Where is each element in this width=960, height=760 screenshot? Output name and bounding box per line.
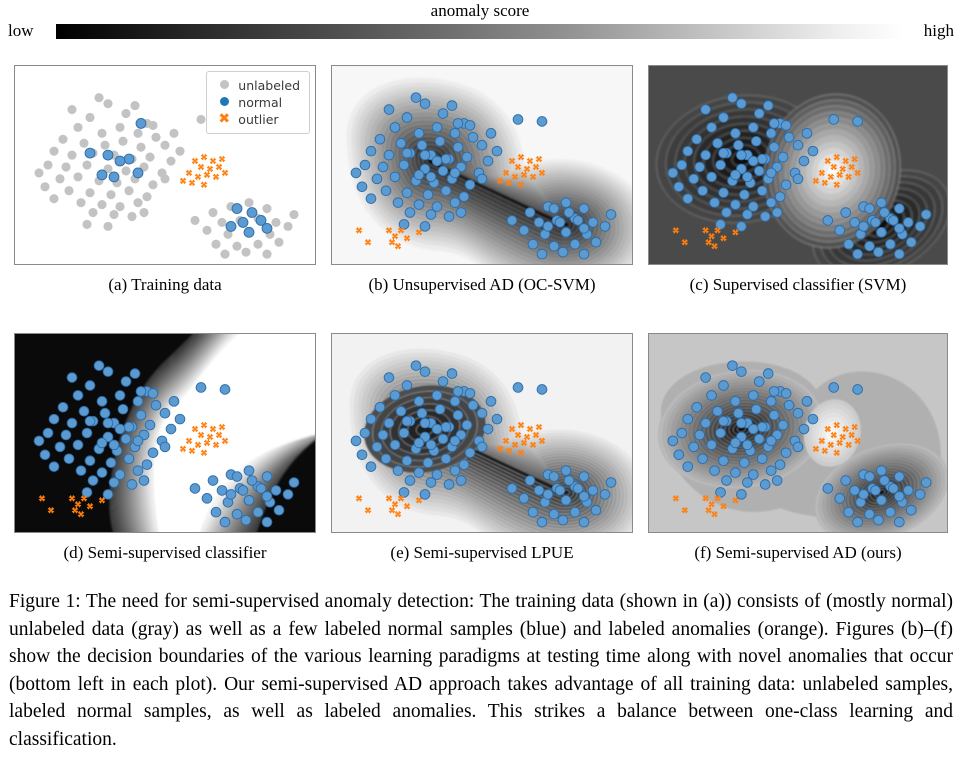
panel-f-plot xyxy=(649,334,947,532)
colorbar: anomaly score low high xyxy=(0,0,960,52)
outlier-marker-icon: ✖ xyxy=(214,112,234,127)
panel-a-training-data: unlabeled normal ✖ outlier xyxy=(14,65,316,265)
panel-d-semi-supervised-classifier xyxy=(14,333,316,533)
panel-d-caption: (d) Semi-supervised classifier xyxy=(14,542,316,564)
legend-item-normal: normal xyxy=(214,94,300,111)
panel-b-caption: (b) Unsupervised AD (OC-SVM) xyxy=(331,274,633,296)
panel-e-plot xyxy=(332,334,632,532)
figure-1: anomaly score low high unlabeled normal xyxy=(0,0,960,760)
panel-c-plot xyxy=(649,66,947,264)
colorbar-title: anomaly score xyxy=(0,1,960,21)
legend: unlabeled normal ✖ outlier xyxy=(206,71,310,134)
panel-e-caption: (e) Semi-supervised LPUE xyxy=(331,542,633,564)
panel-b-unsupervised-ad xyxy=(331,65,633,265)
normal-marker-icon xyxy=(214,96,234,110)
panel-d-plot xyxy=(15,334,315,532)
legend-item-outlier: ✖ outlier xyxy=(214,111,300,128)
colorbar-low-label: low xyxy=(8,21,34,41)
legend-label-normal: normal xyxy=(238,95,282,110)
panel-b-plot xyxy=(332,66,632,264)
panel-f-semi-supervised-ad-ours xyxy=(648,333,948,533)
panel-a-caption: (a) Training data xyxy=(14,274,316,296)
panel-c-supervised-classifier xyxy=(648,65,948,265)
legend-item-unlabeled: unlabeled xyxy=(214,77,300,94)
unlabeled-marker-icon xyxy=(214,79,234,93)
panel-c-caption: (c) Supervised classifier (SVM) xyxy=(648,274,948,296)
panel-e-semi-supervised-lpue xyxy=(331,333,633,533)
panel-f-caption: (f) Semi-supervised AD (ours) xyxy=(648,542,948,564)
colorbar-gradient xyxy=(56,24,904,39)
figure-caption: Figure 1: The need for semi-supervised a… xyxy=(9,588,953,753)
colorbar-high-label: high xyxy=(924,21,954,41)
legend-label-unlabeled: unlabeled xyxy=(238,78,300,93)
legend-label-outlier: outlier xyxy=(238,112,278,127)
